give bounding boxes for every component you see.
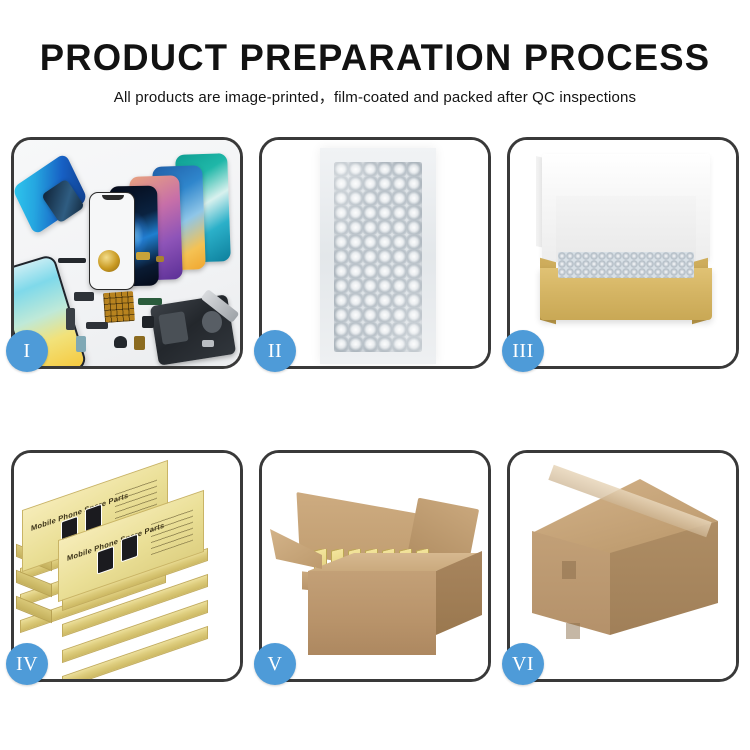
sim-tray-icon [134, 336, 145, 350]
steps-grid: I II [11, 137, 739, 682]
retail-box-stack-icon: Mobile Phone Spare Parts Mobile Phone Sp… [16, 469, 240, 669]
inner-box-bubble-contents-icon [558, 252, 694, 278]
speaker-module-icon [114, 336, 127, 348]
step-badge-4: IV [6, 643, 48, 685]
retail-box-spec-lines [151, 507, 193, 555]
retail-box-product-photo-2 [121, 534, 138, 563]
retail-box-product-photo-1 [97, 546, 114, 575]
step-panel-6: VI [507, 450, 739, 682]
flex-cable-d-icon [66, 308, 75, 330]
step-badge-6: VI [502, 643, 544, 685]
bubble-wrap-package-icon [320, 148, 436, 364]
flex-cable-e-icon [86, 322, 108, 329]
screw-set-icon [202, 340, 214, 347]
carton-front-face-icon [308, 571, 436, 655]
inner-box-lid-icon [542, 154, 710, 262]
step-image-1 [14, 140, 240, 366]
flex-cable-c-icon [74, 292, 94, 301]
step-badge-5: V [254, 643, 296, 685]
battery-connector-icon [76, 336, 86, 352]
product-preparation-infographic: PRODUCT PREPARATION PROCESS All products… [0, 0, 750, 750]
bubble-sheen [334, 162, 422, 352]
step-badge-1: I [6, 330, 48, 372]
page-subtitle: All products are image-printed，film-coat… [4, 87, 747, 109]
camera-module-icon [142, 316, 154, 328]
earpiece-speaker-icon [58, 258, 86, 263]
page-title: PRODUCT PREPARATION PROCESS [6, 36, 745, 80]
connector-grid-icon [103, 291, 135, 323]
step-image-2 [262, 140, 488, 366]
step-panel-4: Mobile Phone Spare Parts Mobile Phone Sp… [11, 450, 243, 682]
step-image-5 [262, 453, 488, 679]
step-panel-5: V [259, 450, 491, 682]
flex-cable-a-icon [136, 252, 150, 260]
flex-cable-f-icon [138, 298, 162, 305]
vibration-motor-icon [98, 250, 120, 272]
header: PRODUCT PREPARATION PROCESS All products… [0, 36, 750, 109]
step-image-6 [510, 453, 736, 679]
carton-seam-lower [566, 623, 580, 639]
phone-screen-1-icon [89, 192, 135, 290]
step-badge-2: II [254, 330, 296, 372]
step-image-4: Mobile Phone Spare Parts Mobile Phone Sp… [14, 453, 240, 679]
step-image-3 [510, 140, 736, 366]
carton-seam-upper [562, 561, 576, 579]
step-badge-3: III [502, 330, 544, 372]
step-panel-2: II [259, 137, 491, 369]
step-panel-3: III [507, 137, 739, 369]
flex-cable-b-icon [156, 256, 164, 262]
inner-box-body-icon [540, 268, 712, 320]
step-panel-1: I [11, 137, 243, 369]
